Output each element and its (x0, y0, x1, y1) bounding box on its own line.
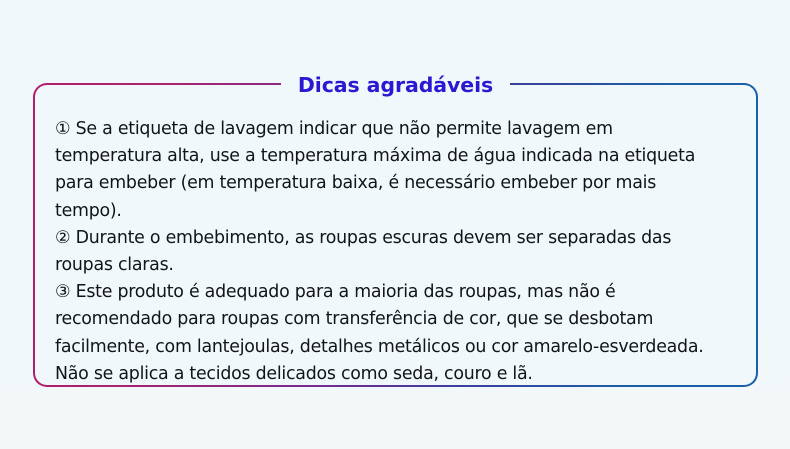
tip-line: para embeber (em temperatura baixa, é ne… (55, 170, 738, 197)
tip-line: recomendado para roupas com transferênci… (55, 306, 738, 333)
tip-line: roupas claras. (55, 252, 738, 279)
tip-line: tempo). (55, 198, 738, 225)
tip-item-2: ② Durante o embebimento, as roupas escur… (55, 225, 738, 279)
tip-line: ① Se a etiqueta de lavagem indicar que n… (55, 116, 738, 143)
tip-line: ② Durante o embebimento, as roupas escur… (55, 225, 738, 252)
tip-line: ③ Este produto é adequado para a maioria… (55, 279, 738, 306)
tip-line: Não se aplica a tecidos delicados como s… (55, 361, 738, 388)
tips-body: ① Se a etiqueta de lavagem indicar que n… (55, 116, 738, 388)
tip-item-1: ① Se a etiqueta de lavagem indicar que n… (55, 116, 738, 225)
tip-line: facilmente, com lantejoulas, detalhes me… (55, 334, 738, 361)
tip-item-3: ③ Este produto é adequado para a maioria… (55, 279, 738, 388)
tip-line: temperatura alta, use a temperatura máxi… (55, 143, 738, 170)
tips-card: Dicas agradáveis ① Se a etiqueta de lava… (33, 83, 758, 387)
